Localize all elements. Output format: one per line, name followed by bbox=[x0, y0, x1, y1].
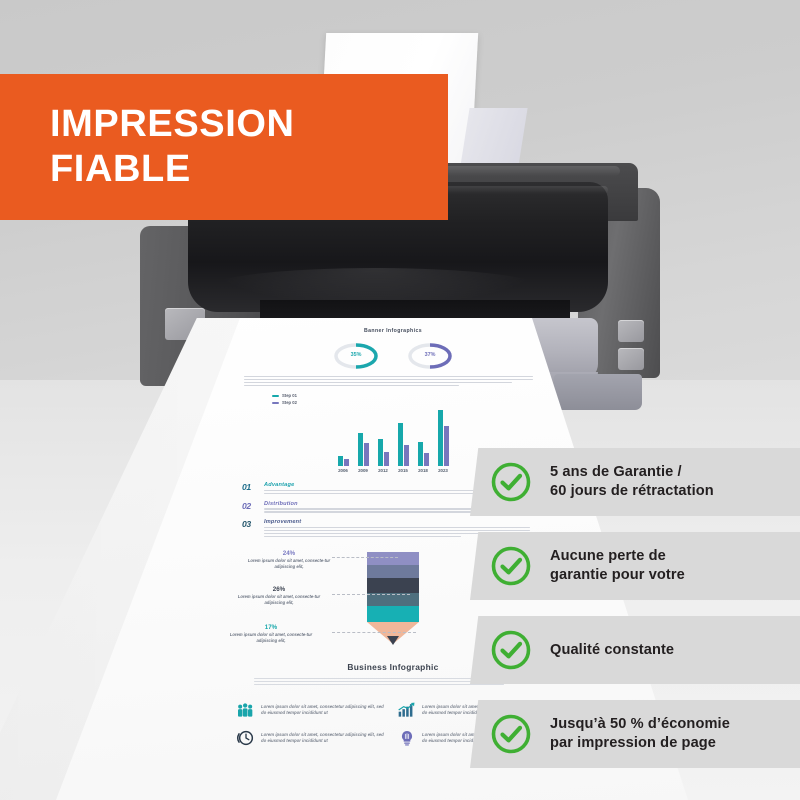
bar-axis-label: 2018 bbox=[418, 468, 429, 473]
bar-step-02 bbox=[424, 453, 429, 466]
funnel-text: Lorem ipsum dolor sit amet, consecte-tur… bbox=[246, 558, 332, 570]
funnel-callout: 24% Lorem ipsum dolor sit amet, consecte… bbox=[246, 550, 332, 571]
bar-step-02 bbox=[404, 445, 409, 467]
feature-callout-4-text: Jusqu’à 50 % d’économie par impression d… bbox=[550, 715, 730, 752]
bar-group bbox=[358, 433, 369, 466]
bar-axis-label: 2006 bbox=[338, 468, 349, 473]
bar-group bbox=[418, 442, 429, 467]
bar-group bbox=[398, 423, 409, 467]
funnel-value: 26% bbox=[236, 586, 322, 593]
funnel-value: 24% bbox=[246, 550, 332, 557]
feature-callout-4[interactable]: Jusqu’à 50 % d’économie par impression d… bbox=[470, 700, 800, 768]
donut-chart-2-value: 37% bbox=[407, 352, 453, 358]
infographic-header-title: Banner Infographics bbox=[228, 328, 558, 334]
icon-item: Lorem ipsum dolor sit amet, consectetur … bbox=[236, 701, 389, 719]
funnel-callout: 26% Lorem ipsum dolor sit amet, consecte… bbox=[236, 586, 322, 607]
bar-axis-label: 2012 bbox=[378, 468, 389, 473]
bar-axis-label: 2015 bbox=[398, 468, 409, 473]
bar-chart-legend: Step 01 Step 02 bbox=[272, 393, 558, 405]
donut-chart-2: 37% bbox=[407, 343, 453, 369]
feature-line-1: Aucune perte de bbox=[550, 547, 685, 566]
bar-group bbox=[378, 439, 389, 467]
feature-callout-3[interactable]: Qualité constante bbox=[470, 616, 800, 684]
bar-step-01 bbox=[438, 410, 443, 467]
step-number: 03 bbox=[242, 519, 258, 529]
bar-step-02 bbox=[384, 452, 389, 467]
check-circle-icon bbox=[490, 461, 532, 503]
icon-item-text: Lorem ipsum dolor sit amet, consectetur … bbox=[261, 704, 389, 717]
bar-step-01 bbox=[358, 433, 363, 466]
feature-line-2: par impression de page bbox=[550, 734, 730, 753]
funnel-text: Lorem ipsum dolor sit amet, consecte-tur… bbox=[228, 632, 314, 644]
check-circle-icon bbox=[490, 713, 532, 755]
check-circle-icon bbox=[490, 629, 532, 671]
donut-chart-row: 35% 37% bbox=[228, 343, 558, 369]
feature-line-1: Jusqu’à 50 % d’économie bbox=[550, 715, 730, 734]
step-number: 02 bbox=[242, 501, 258, 511]
icon-item: Lorem ipsum dolor sit amet, consectetur … bbox=[236, 729, 389, 747]
feature-line-2: 60 jours de rétractation bbox=[550, 482, 714, 501]
feature-callout-2-text: Aucune perte de garantie pour votre bbox=[550, 547, 685, 584]
check-circle-icon bbox=[490, 545, 532, 587]
headline-line-1: IMPRESSION bbox=[50, 102, 448, 147]
people-group-icon bbox=[236, 701, 256, 719]
legend-item: Step 01 bbox=[272, 393, 558, 398]
bar-step-02 bbox=[364, 443, 369, 466]
bar-group bbox=[438, 410, 449, 467]
legend-swatch-step-02 bbox=[272, 402, 279, 405]
bar-step-02 bbox=[344, 459, 349, 466]
headline-line-2: FIABLE bbox=[50, 147, 448, 192]
feature-callout-2[interactable]: Aucune perte de garantie pour votre bbox=[470, 532, 800, 600]
feature-line-1: 5 ans de Garantie / bbox=[550, 463, 714, 482]
legend-swatch-step-01 bbox=[272, 395, 279, 398]
lightbulb-icon bbox=[397, 729, 417, 747]
funnel-value: 17% bbox=[228, 624, 314, 631]
feature-callouts: 5 ans de Garantie / 60 jours de rétracta… bbox=[470, 448, 800, 800]
bar-axis-label: 2023 bbox=[438, 468, 449, 473]
step-number: 01 bbox=[242, 482, 258, 492]
bar-step-01 bbox=[338, 456, 343, 466]
intro-paragraph-placeholder bbox=[244, 376, 542, 386]
bar-group bbox=[338, 456, 349, 466]
printer-lid-highlight bbox=[420, 166, 620, 176]
legend-label-step-02: Step 02 bbox=[282, 400, 297, 405]
pencil-lead bbox=[387, 636, 399, 645]
legend-item: Step 02 bbox=[272, 400, 558, 405]
donut-chart-1: 35% bbox=[333, 343, 379, 369]
bar-axis-label: 2009 bbox=[358, 468, 369, 473]
donut-chart-1-value: 35% bbox=[333, 352, 379, 358]
feature-callout-1-text: 5 ans de Garantie / 60 jours de rétracta… bbox=[550, 463, 714, 500]
bar-chart-growth-icon bbox=[397, 701, 417, 719]
feature-callout-3-text: Qualité constante bbox=[550, 641, 674, 660]
clock-icon bbox=[236, 729, 256, 747]
bar-step-01 bbox=[398, 423, 403, 467]
feature-line-2: garantie pour votre bbox=[550, 566, 685, 585]
funnel-callout: 17% Lorem ipsum dolor sit amet, consecte… bbox=[228, 624, 314, 645]
bar-step-02 bbox=[444, 426, 449, 467]
bar-step-01 bbox=[418, 442, 423, 467]
headline-banner: IMPRESSION FIABLE bbox=[0, 74, 448, 220]
funnel-text: Lorem ipsum dolor sit amet, consecte-tur… bbox=[236, 594, 322, 606]
poster-canvas: Banner Infographics 35% 37% bbox=[0, 0, 800, 800]
feature-callout-1[interactable]: 5 ans de Garantie / 60 jours de rétracta… bbox=[470, 448, 800, 516]
bar-step-01 bbox=[378, 439, 383, 467]
legend-label-step-01: Step 01 bbox=[282, 393, 297, 398]
feature-line-1: Qualité constante bbox=[550, 641, 674, 660]
icon-item-text: Lorem ipsum dolor sit amet, consectetur … bbox=[261, 732, 389, 745]
